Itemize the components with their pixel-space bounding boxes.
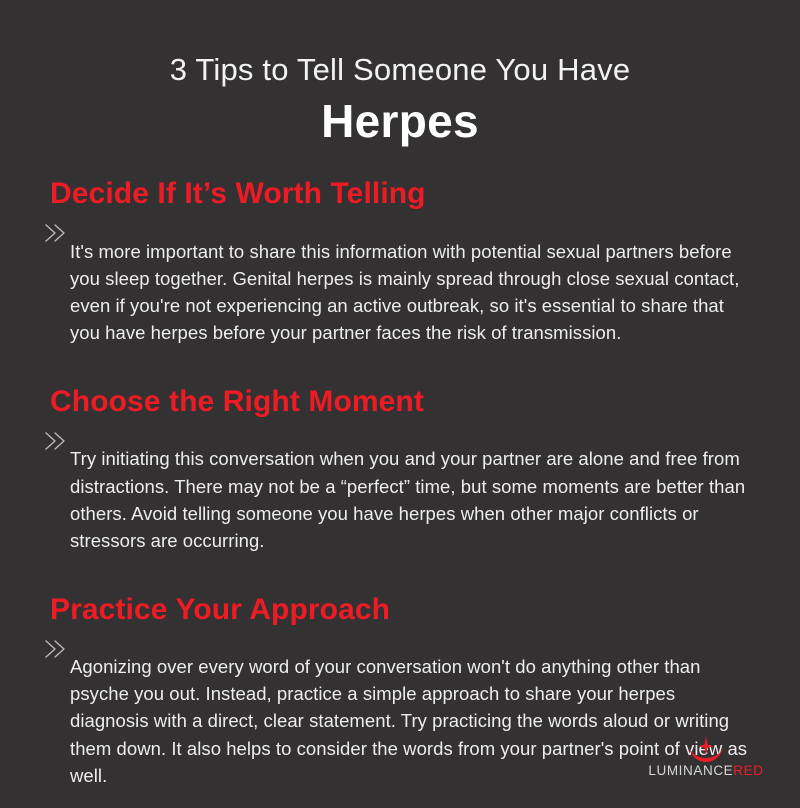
tip-bullet-row-2: Try initiating this conversation when yo… <box>50 427 764 573</box>
infographic-canvas: 3 Tips to Tell Someone You Have Herpes D… <box>0 0 800 800</box>
tip-heading-2: Choose the Right Moment <box>50 384 764 420</box>
double-chevron-right-icon <box>42 638 70 660</box>
tip-bullet-row-1: It's more important to share this inform… <box>50 219 764 365</box>
tip-body-2: Try initiating this conversation when yo… <box>70 445 764 554</box>
logo-word-luminance: LUMINANCE <box>648 763 733 778</box>
tip-heading-1: Decide If It’s Worth Telling <box>50 176 764 212</box>
brand-logo: LUMINANCERED <box>642 736 770 778</box>
tip-bullet-row-3: Agonizing over every word of your conver… <box>50 635 764 808</box>
logo-word-red: RED <box>733 763 763 778</box>
double-chevron-right-icon <box>42 222 70 244</box>
star-over-arc-icon <box>680 736 732 762</box>
page-title-line-2: Herpes <box>0 93 800 151</box>
tip-heading-3: Practice Your Approach <box>50 592 764 628</box>
tip-body-1: It's more important to share this inform… <box>70 238 764 347</box>
double-chevron-right-icon <box>42 430 70 452</box>
tip-section-2: Choose the Right Moment Try initiating t… <box>0 384 800 573</box>
tips-list: Decide If It’s Worth Telling It's more i… <box>0 176 800 807</box>
title-block: 3 Tips to Tell Someone You Have Herpes <box>0 0 800 150</box>
logo-wordmark: LUMINANCERED <box>642 763 770 778</box>
tip-section-1: Decide If It’s Worth Telling It's more i… <box>0 176 800 365</box>
page-title-line-1: 3 Tips to Tell Someone You Have <box>0 52 800 89</box>
